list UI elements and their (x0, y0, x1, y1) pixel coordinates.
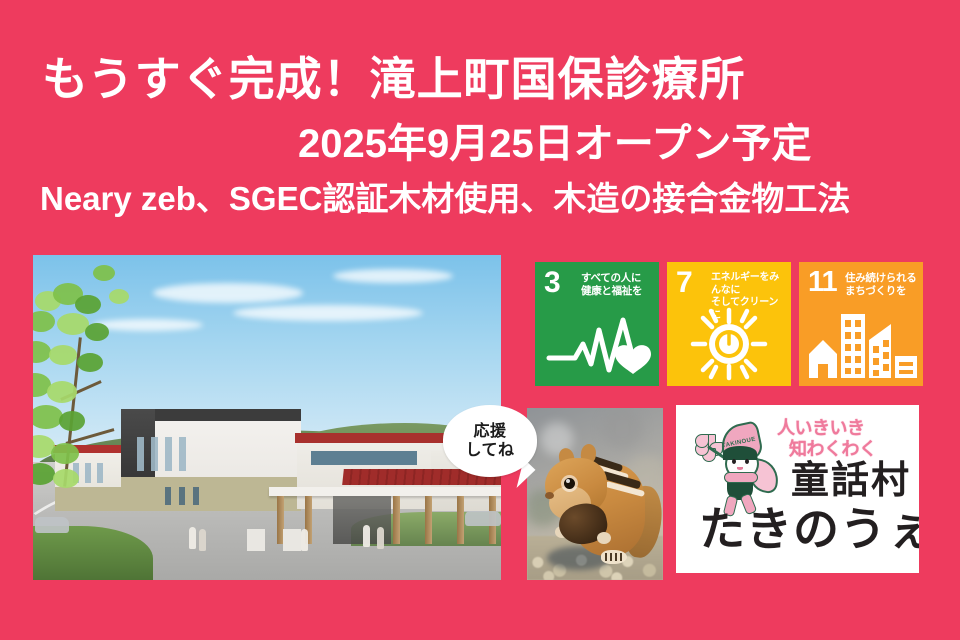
chipmunk-foot (601, 550, 627, 564)
sdg-caption: 住み続けられる まちづくりを (845, 272, 919, 298)
sdg-number: 3 (544, 268, 561, 298)
speech-bubble-line2: してね (465, 441, 514, 460)
page-title: もうすぐ完成！滝上町国保診療所 (42, 56, 746, 102)
town-logo-tagline: 人いきいき 知わくわく (777, 418, 919, 460)
sdg-caption: すべての人に 健康と福祉を (581, 272, 655, 298)
fairy-mouth (737, 467, 743, 470)
chipmunk-eye (564, 478, 575, 489)
poster-canvas: もうすぐ完成！滝上町国保診療所 2025年9月25日オープン予定 Neary z… (0, 0, 960, 640)
construction-features-text: Neary zeb、SGEC認証木材使用、木造の接合金物工法 (40, 182, 850, 215)
fairy-scarf (724, 472, 758, 483)
chipmunk-paw (597, 532, 611, 544)
town-logo-panel: TAKINOUE 人いきいき 知わくわく 童話村 たきのうぇ (681, 410, 914, 568)
fairy-hair (723, 446, 757, 460)
opening-date-text: 2025年9月25日オープン予定 (298, 124, 811, 164)
clerestory-window-strip (311, 451, 417, 465)
wood-column (393, 496, 400, 544)
sun-power-icon (667, 306, 791, 382)
chipmunk-photo (527, 408, 663, 580)
tagline-line1: 人いきいき (777, 418, 865, 438)
parked-car (465, 511, 501, 526)
cloud-icon (233, 305, 423, 321)
speech-bubble-line1: 応援 (473, 422, 506, 441)
figure-person (301, 529, 308, 551)
sdg-goal-7[interactable]: 7 エネルギーをみんなに そしてクリーンに (667, 262, 791, 386)
sdg-icon-row: 3 すべての人に 健康と福祉を 7 エネルギーをみんなに そしてクリーンに (535, 262, 923, 386)
town-logo-name: たきのうぇ (699, 506, 919, 552)
figure-person (377, 527, 384, 549)
parked-car (35, 517, 69, 533)
wood-column (457, 496, 464, 544)
wood-column (425, 496, 432, 544)
chipmunk-nose (545, 492, 554, 499)
fairy-eye (745, 459, 749, 464)
speech-bubble: 応援 してね (443, 405, 537, 477)
speech-bubble-text: 応援 してね (443, 405, 537, 477)
takinoue-fairy-mascot-icon: TAKINOUE (691, 420, 783, 512)
sdg-goal-3[interactable]: 3 すべての人に 健康と福祉を (535, 262, 659, 386)
figure-person (189, 527, 196, 549)
tagline-line2: 知わくわく (789, 439, 919, 460)
sdg-number: 11 (808, 268, 837, 297)
town-logo-title: 童話村 (791, 462, 911, 500)
cloud-icon (333, 269, 453, 283)
fairy-eye (732, 459, 736, 464)
building-render-photo (33, 255, 501, 580)
sdg-goal-11[interactable]: 11 住み続けられる まちづくりを (799, 262, 923, 386)
figure-person (199, 529, 206, 551)
city-buildings-icon (799, 306, 923, 382)
entrance-post (283, 529, 301, 551)
sdg-number: 7 (676, 268, 693, 298)
figure-person (363, 525, 370, 547)
entrance-post (247, 529, 265, 551)
tree-foliage (33, 255, 209, 499)
entrance-canopy (269, 487, 501, 496)
heartbeat-heart-icon (535, 306, 659, 382)
town-logo[interactable]: TAKINOUE 人いきいき 知わくわく 童話村 たきのうぇ (676, 405, 919, 573)
chipmunk-illustration (541, 442, 657, 566)
